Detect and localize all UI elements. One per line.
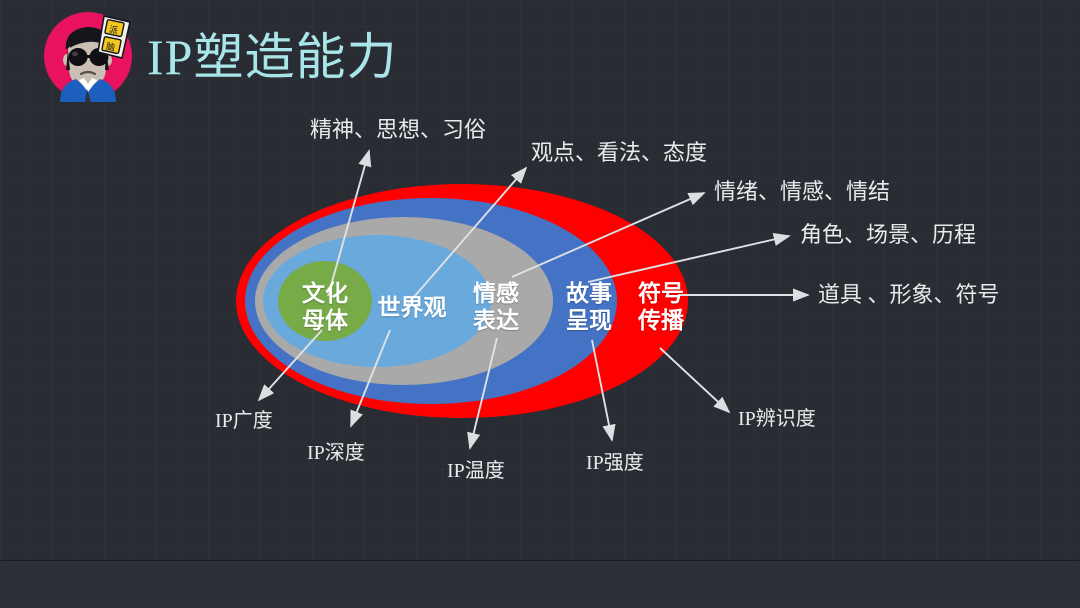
callout-ip-strength: IP强度 xyxy=(586,450,644,476)
ring-label-story: 故事 呈现 xyxy=(556,280,622,334)
callout-role-scene: 角色、场景、历程 xyxy=(800,222,976,248)
callout-ip-depth: IP深度 xyxy=(307,440,365,466)
ring-label-culture: 文化 母体 xyxy=(278,280,372,334)
callout-props-image: 道具 、形象、符号 xyxy=(818,282,1000,308)
nested-ellipse-diagram: 文化 母体 世界观 情感 表达 故事 呈现 符号 传播 精神、思想、习俗 观点、… xyxy=(0,0,1080,560)
callout-ip-recognition: IP辨识度 xyxy=(738,406,816,432)
callout-emotion-kinds: 情绪、情感、情结 xyxy=(714,179,890,205)
callout-ip-warmth: IP温度 xyxy=(447,458,505,484)
slide-canvas: 派 脑 IP塑造能力 xyxy=(0,0,1080,608)
ring-label-worldview: 世界观 xyxy=(367,294,457,321)
callout-spirit: 精神、思想、习俗 xyxy=(310,117,486,143)
ring-label-emotion: 情感 表达 xyxy=(461,280,531,334)
footer-strip xyxy=(0,561,1080,608)
ring-label-symbol: 符号 传播 xyxy=(626,280,696,334)
callout-viewpoint: 观点、看法、态度 xyxy=(531,140,707,166)
callout-ip-breadth: IP广度 xyxy=(215,408,273,434)
arrow-to-ip-recognition xyxy=(660,348,729,412)
